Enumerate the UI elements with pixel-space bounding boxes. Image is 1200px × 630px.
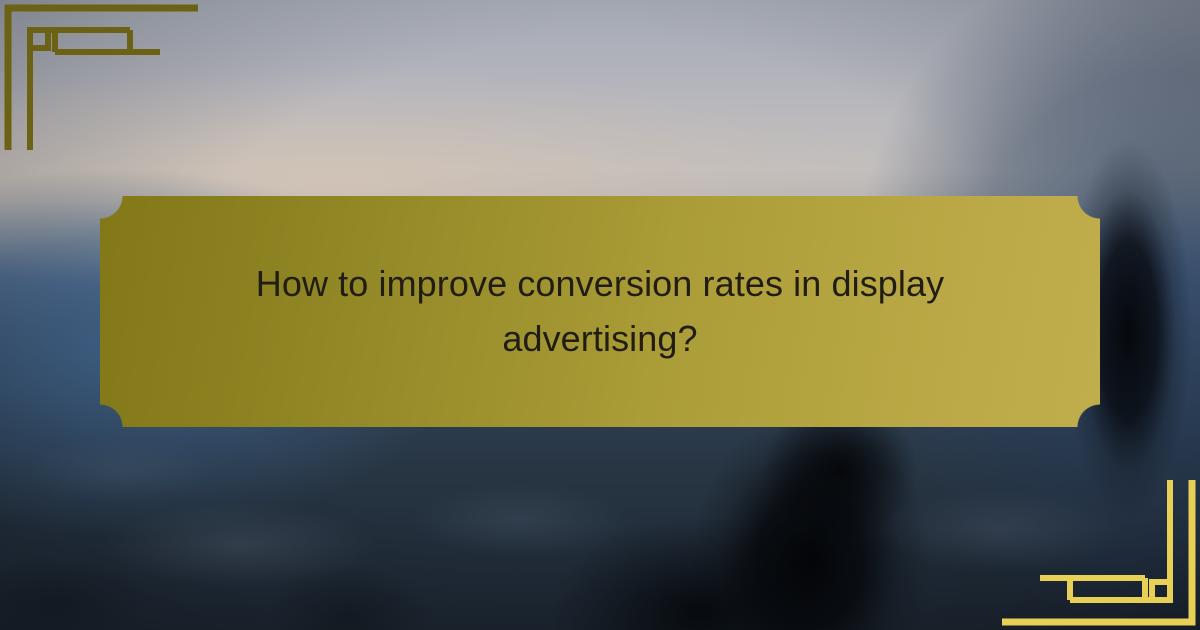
title-banner: How to improve conversion rates in displ…: [100, 196, 1100, 427]
corner-ornament-top-left-icon: [0, 0, 210, 150]
page-title: How to improve conversion rates in displ…: [205, 257, 995, 366]
social-card: How to improve conversion rates in displ…: [0, 0, 1200, 630]
corner-ornament-bottom-right-icon: [990, 480, 1200, 630]
